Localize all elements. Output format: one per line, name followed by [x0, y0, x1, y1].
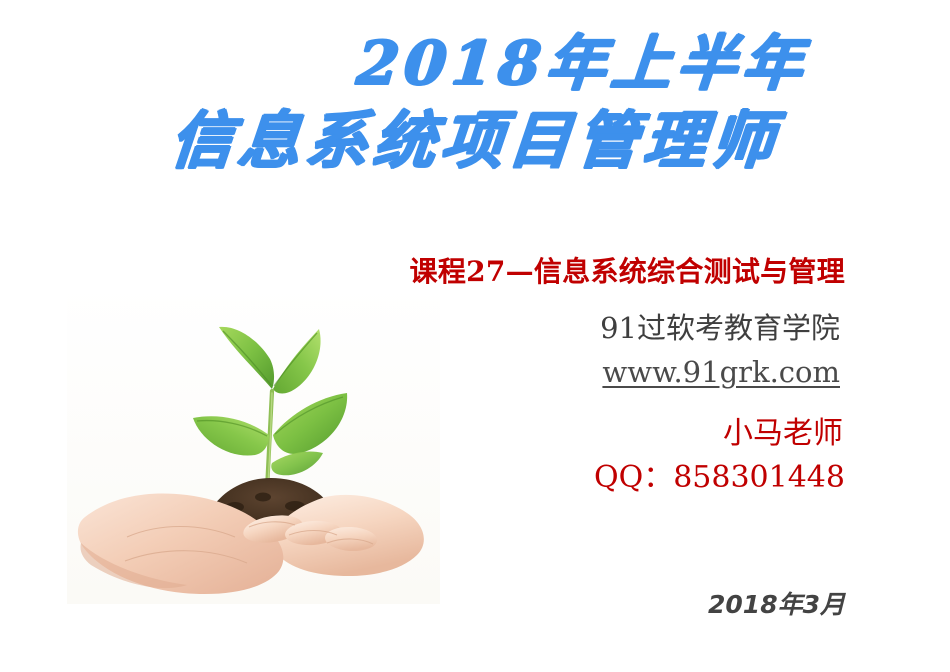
qq-number: 858301448: [673, 460, 845, 495]
presenter-name: 小马老师: [0, 408, 843, 452]
presenter-qq: QQ：858301448: [0, 452, 845, 496]
course-subtitle: 课程27—信息系统综合测试与管理: [0, 250, 845, 290]
organization-name: 91过软考教育学院: [0, 305, 840, 347]
slide-title: 2018年上半年 信息系统项目管理师: [0, 34, 950, 172]
website-url-text[interactable]: www.91grk.com: [602, 355, 840, 389]
slide-date: 2018年3月: [0, 585, 845, 621]
title-line-exam: 信息系统项目管理师: [0, 110, 950, 172]
title-line-year: 2018年上半年: [0, 34, 950, 94]
qq-label: QQ：: [594, 460, 673, 495]
presentation-slide: 2018年上半年 信息系统项目管理师: [0, 0, 950, 672]
website-url[interactable]: www.91grk.com: [0, 355, 840, 389]
